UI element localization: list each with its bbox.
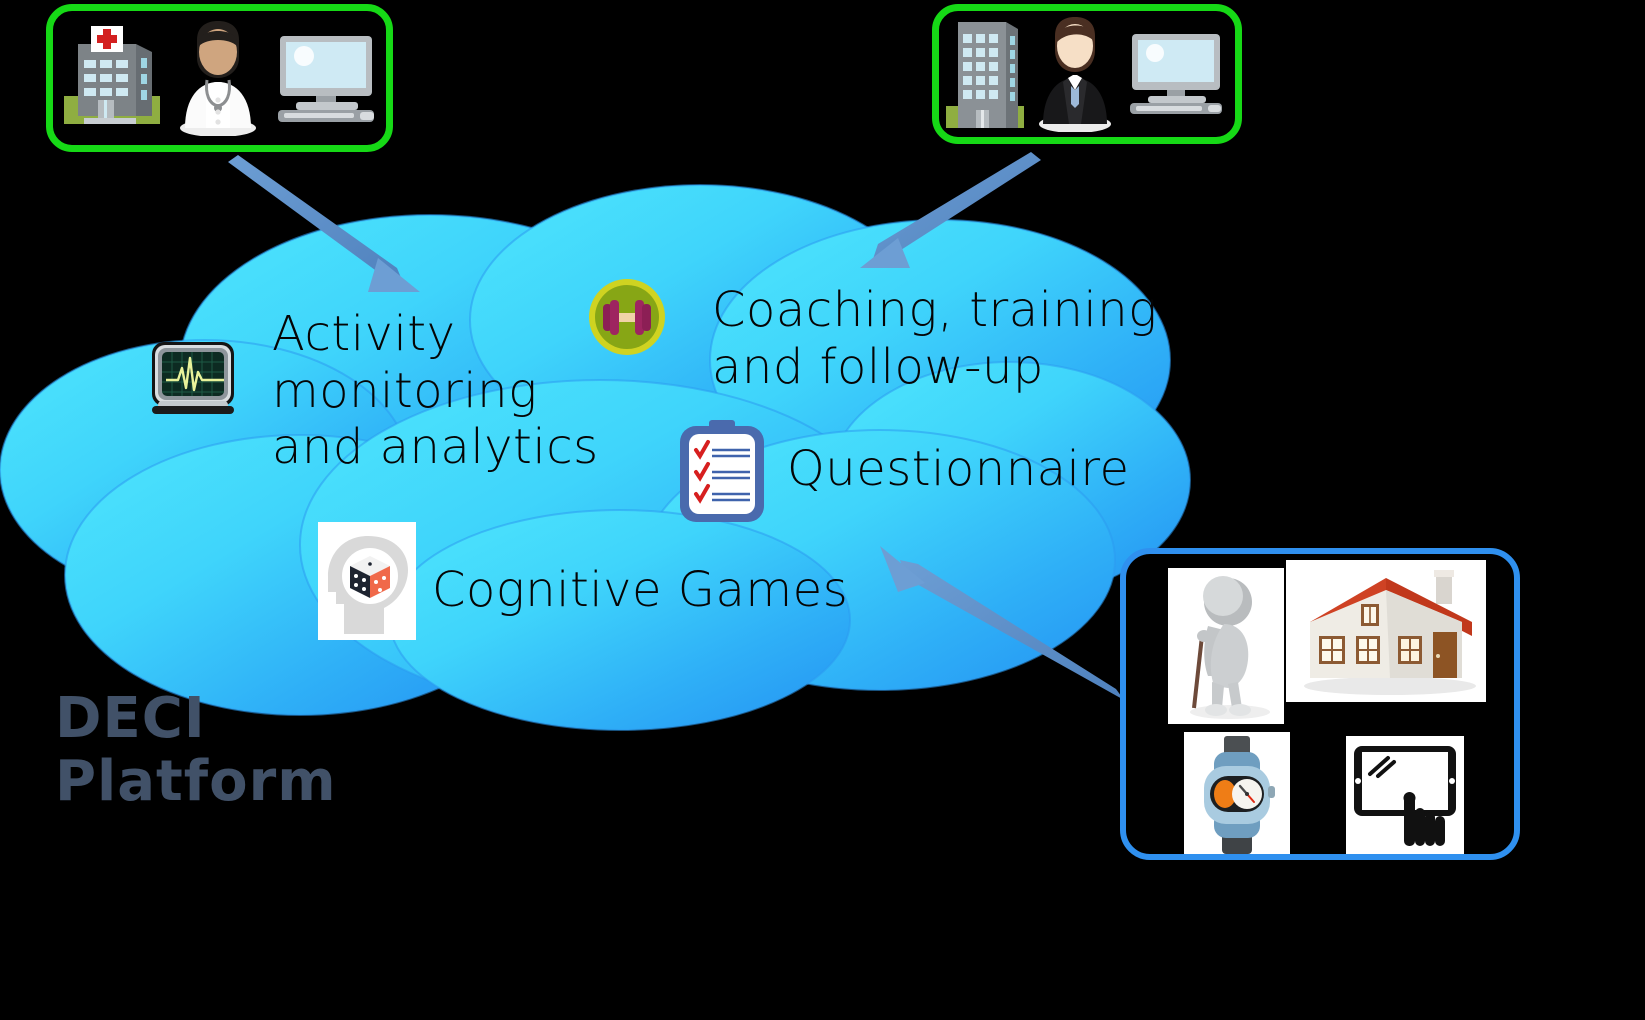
- service-label-activity: Activity monitoring and analytics: [272, 306, 599, 476]
- elderly-person-cell: [1168, 568, 1284, 724]
- platform-wordmark: DECI Platform: [55, 688, 337, 813]
- heart-monitor-icon: [148, 338, 238, 418]
- computer-cell-office: [1124, 30, 1230, 118]
- head-dice-icon: [318, 522, 416, 640]
- service-label-questionnaire: Questionnaire: [787, 441, 1130, 498]
- doctor-icon: [175, 20, 261, 136]
- office-building-icon: [944, 16, 1026, 132]
- smartwatch-cell: [1184, 732, 1290, 854]
- desktop-computer-icon: [1124, 30, 1230, 118]
- service-label-cognitive-games: Cognitive Games: [432, 562, 848, 619]
- smartwatch-icon: [1184, 732, 1290, 854]
- hospital-building-cell: [58, 22, 166, 134]
- hospital-building-icon: [58, 22, 166, 134]
- house-icon: [1286, 560, 1486, 702]
- arrow-hospital-to-cloud: [228, 155, 420, 292]
- house-cell: [1286, 560, 1486, 702]
- office-organization-box: [932, 4, 1242, 144]
- clipboard-checklist-icon: [668, 416, 776, 526]
- computer-cell-hospital: [270, 32, 382, 124]
- arrow-devices-to-cloud: [880, 546, 1124, 700]
- arrow-office-to-cloud: [860, 152, 1041, 268]
- end-user-devices-panel: [1120, 548, 1520, 860]
- office-building-cell: [944, 16, 1026, 132]
- doctor-cell: [175, 20, 261, 136]
- businessman-icon: [1035, 16, 1115, 132]
- hospital-clinician-box: [46, 4, 393, 152]
- desktop-computer-icon: [270, 32, 382, 124]
- diagram-canvas: Activity monitoring and analytics Coachi…: [0, 0, 1645, 1020]
- elderly-person-with-cane-icon: [1168, 568, 1284, 724]
- tablet-touch-cell: [1346, 736, 1464, 854]
- connector-arrows: [0, 0, 1645, 1020]
- businessman-cell: [1035, 16, 1115, 132]
- service-label-coaching: Coaching, training and follow-up: [712, 282, 1157, 395]
- tablet-touch-icon: [1346, 736, 1464, 854]
